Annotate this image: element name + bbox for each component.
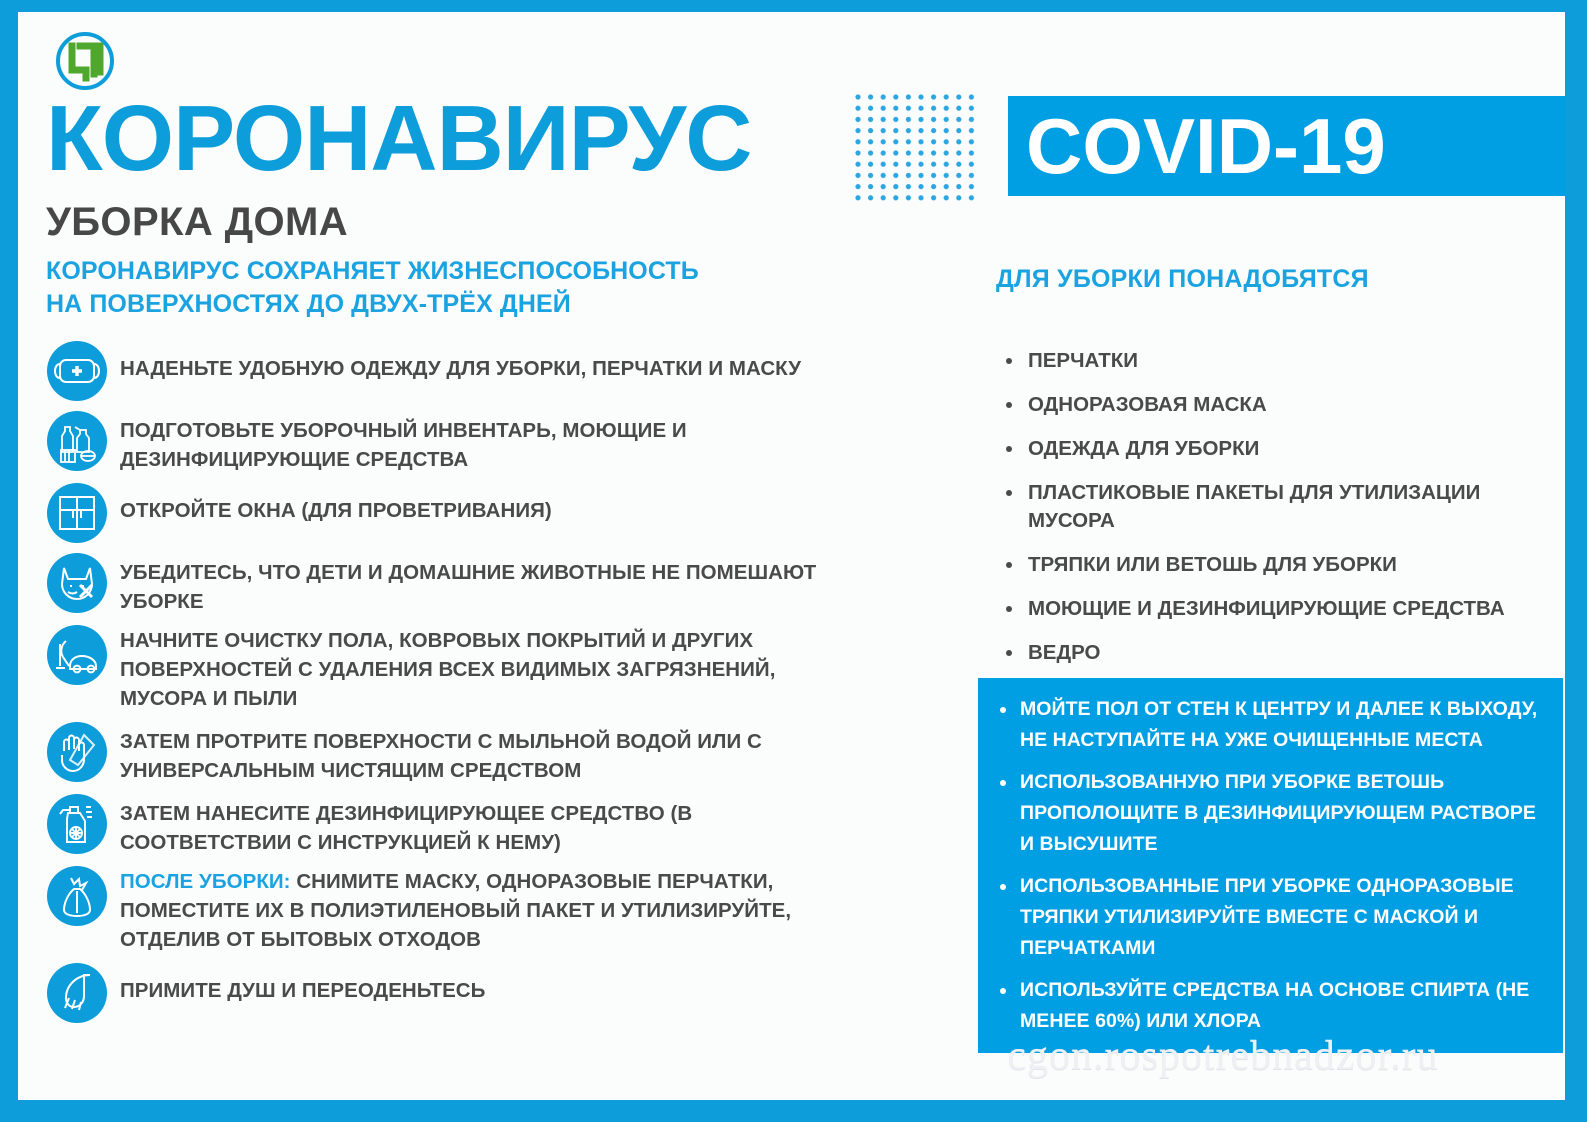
shower-icon bbox=[46, 962, 108, 1024]
poster-root: КОРОНАВИРУС COVID-19 УБОРКА ДОМА КОРОНАВ… bbox=[0, 0, 1587, 1122]
steps-list: НАДЕНЬТЕ УДОБНУЮ ОДЕЖДУ ДЛЯ УБОРКИ, ПЕРЧ… bbox=[46, 340, 836, 1032]
site-watermark: cgon.rospotrebnadzor.ru bbox=[898, 1032, 1548, 1080]
tips-item: ИСПОЛЬЗУЙТЕ СРЕДСТВА НА ОСНОВЕ СПИРТА (Н… bbox=[980, 975, 1549, 1037]
waste-bag-icon bbox=[46, 865, 108, 927]
lede-line-1: КОРОНАВИРУС СОХРАНЯЕТ ЖИЗНЕСПОСОБНОСТЬ bbox=[46, 255, 746, 288]
dot-grid-decoration bbox=[855, 94, 981, 206]
step-item: НАДЕНЬТЕ УДОБНУЮ ОДЕЖДУ ДЛЯ УБОРКИ, ПЕРЧ… bbox=[46, 340, 836, 402]
step-item: ПОДГОТОВЬТЕ УБОРОЧНЫЙ ИНВЕНТАРЬ, МОЮЩИЕ … bbox=[46, 410, 836, 474]
step-label: ОТКРОЙТЕ ОКНА (ДЛЯ ПРОВЕТРИВАНИЯ) bbox=[120, 482, 836, 525]
step-item: НАЧНИТЕ ОЧИСТКУ ПОЛА, КОВРОВЫХ ПОКРЫТИЙ … bbox=[46, 624, 836, 713]
step-item: УБЕДИТЕСЬ, ЧТО ДЕТИ И ДОМАШНИЕ ЖИВОТНЫЕ … bbox=[46, 552, 836, 616]
step-label: НАДЕНЬТЕ УДОБНУЮ ОДЕЖДУ ДЛЯ УБОРКИ, ПЕРЧ… bbox=[120, 340, 836, 383]
lede-text: КОРОНАВИРУС СОХРАНЯЕТ ЖИЗНЕСПОСОБНОСТЬ Н… bbox=[46, 255, 746, 321]
tips-item: ИСПОЛЬЗОВАННЫЕ ПРИ УБОРКЕ ОДНОРАЗОВЫЕ ТР… bbox=[980, 871, 1549, 964]
tips-panel: МОЙТЕ ПОЛ ОТ СТЕН К ЦЕНТРУ И ДАЛЕЕ К ВЫХ… bbox=[978, 678, 1563, 1053]
step-highlight: ПОСЛЕ УБОРКИ: bbox=[120, 870, 291, 893]
step-label: ПОСЛЕ УБОРКИ: СНИМИТЕ МАСКУ, ОДНОРАЗОВЫЕ… bbox=[120, 865, 836, 954]
list-item: ОДЕЖДА ДЛЯ УБОРКИ bbox=[996, 435, 1556, 463]
step-item: ЗАТЕМ ПРОТРИТЕ ПОВЕРХНОСТИ С МЫЛЬНОЙ ВОД… bbox=[46, 721, 836, 785]
step-label: ПРИМИТЕ ДУШ И ПЕРЕОДЕНЬТЕСЬ bbox=[120, 962, 836, 1005]
no-pets-icon bbox=[46, 552, 108, 614]
step-item: ОТКРОЙТЕ ОКНА (ДЛЯ ПРОВЕТРИВАНИЯ) bbox=[46, 482, 836, 544]
page-title: КОРОНАВИРУС bbox=[46, 90, 751, 186]
poster-sheet: КОРОНАВИРУС COVID-19 УБОРКА ДОМА КОРОНАВ… bbox=[18, 12, 1565, 1100]
list-item: ВЕДРО bbox=[996, 639, 1556, 667]
wiping-hand-icon bbox=[46, 721, 108, 783]
covid-badge-label: COVID-19 bbox=[1026, 96, 1386, 196]
step-item: ПОСЛЕ УБОРКИ: СНИМИТЕ МАСКУ, ОДНОРАЗОВЫЕ… bbox=[46, 865, 836, 954]
tips-list: МОЙТЕ ПОЛ ОТ СТЕН К ЦЕНТРУ И ДАЛЕЕ К ВЫХ… bbox=[980, 694, 1549, 1037]
spray-bottle-icon bbox=[46, 793, 108, 855]
list-item: МОЮЩИЕ И ДЕЗИНФИЦИРУЮЩИЕ СРЕДСТВА bbox=[996, 595, 1556, 623]
page-subtitle: УБОРКА ДОМА bbox=[46, 200, 348, 245]
lede-line-2: НА ПОВЕРХНОСТЯХ ДО ДВУХ-ТРЁХ ДНЕЙ bbox=[46, 288, 746, 321]
step-item: ПРИМИТЕ ДУШ И ПЕРЕОДЕНЬТЕСЬ bbox=[46, 962, 836, 1024]
window-icon bbox=[46, 482, 108, 544]
step-label: УБЕДИТЕСЬ, ЧТО ДЕТИ И ДОМАШНИЕ ЖИВОТНЫЕ … bbox=[120, 552, 836, 616]
supplies-list: ПЕРЧАТКИ ОДНОРАЗОВАЯ МАСКА ОДЕЖДА ДЛЯ УБ… bbox=[996, 347, 1556, 727]
step-label: ЗАТЕМ ПРОТРИТЕ ПОВЕРХНОСТИ С МЫЛЬНОЙ ВОД… bbox=[120, 721, 836, 785]
cgon-logo bbox=[54, 30, 116, 92]
step-label: ЗАТЕМ НАНЕСИТЕ ДЕЗИНФИЦИРУЮЩЕЕ СРЕДСТВО … bbox=[120, 793, 836, 857]
list-item: ТРЯПКИ ИЛИ ВЕТОШЬ ДЛЯ УБОРКИ bbox=[996, 551, 1556, 579]
cleaning-supplies-icon bbox=[46, 410, 108, 472]
step-item: ЗАТЕМ НАНЕСИТЕ ДЕЗИНФИЦИРУЮЩЕЕ СРЕДСТВО … bbox=[46, 793, 836, 857]
step-label: ПОДГОТОВЬТЕ УБОРОЧНЫЙ ИНВЕНТАРЬ, МОЮЩИЕ … bbox=[120, 410, 836, 474]
face-mask-icon bbox=[46, 340, 108, 402]
list-item: ПЛАСТИКОВЫЕ ПАКЕТЫ ДЛЯ УТИЛИЗАЦИИ МУСОРА bbox=[996, 479, 1556, 535]
list-item: ПЕРЧАТКИ bbox=[996, 347, 1556, 375]
tips-item: МОЙТЕ ПОЛ ОТ СТЕН К ЦЕНТРУ И ДАЛЕЕ К ВЫХ… bbox=[980, 694, 1549, 756]
list-item: ОДНОРАЗОВАЯ МАСКА bbox=[996, 391, 1556, 419]
vacuum-cleaner-icon bbox=[46, 624, 108, 686]
step-label: НАЧНИТЕ ОЧИСТКУ ПОЛА, КОВРОВЫХ ПОКРЫТИЙ … bbox=[120, 624, 836, 713]
supplies-heading: ДЛЯ УБОРКИ ПОНАДОБЯТСЯ bbox=[996, 265, 1369, 294]
tips-item: ИСПОЛЬЗОВАННУЮ ПРИ УБОРКЕ ВЕТОШЬ ПРОПОЛО… bbox=[980, 767, 1549, 860]
